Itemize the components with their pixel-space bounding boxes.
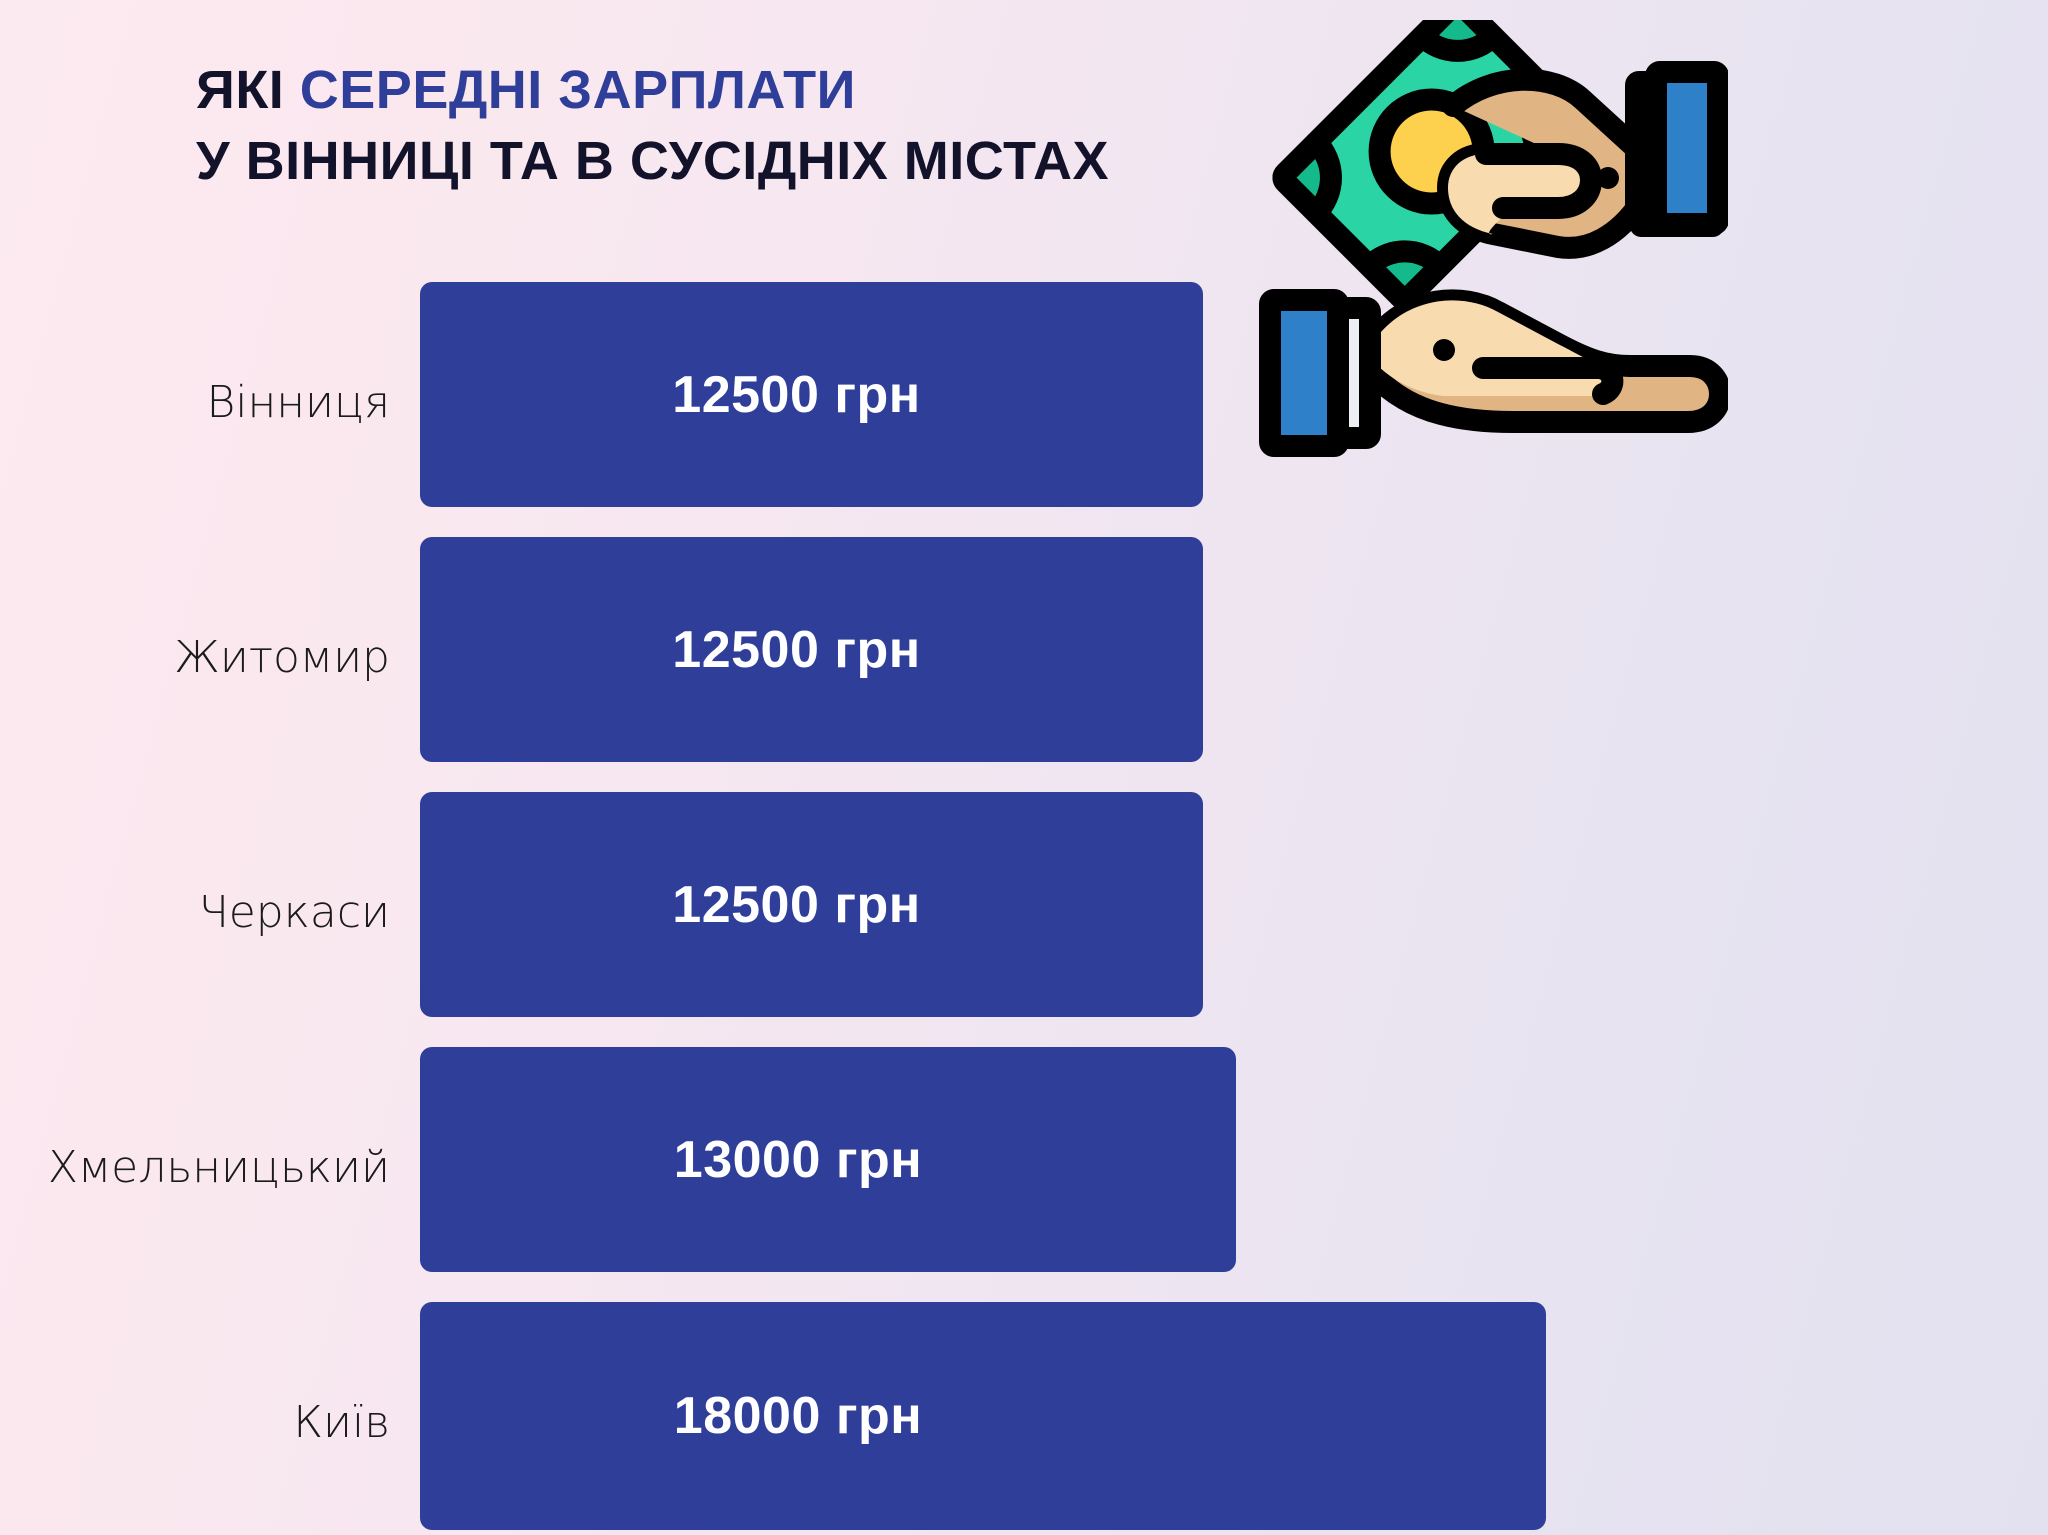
bar-category-label: Черкаси <box>0 887 390 938</box>
title-line-1: ЯКІ СЕРЕДНІ ЗАРПЛАТИ <box>196 55 1276 126</box>
bar-segment: 18000 грн <box>420 1302 1546 1530</box>
title-line-1-accent: СЕРЕДНІ ЗАРПЛАТИ <box>300 60 856 120</box>
infographic-canvas: ЯКІ СЕРЕДНІ ЗАРПЛАТИ У ВІННИЦІ ТА В СУСІ… <box>0 0 2048 1535</box>
bar-category-label: Хмельницький <box>0 1142 390 1193</box>
title-line-2: У ВІННИЦІ ТА В СУСІДНІХ МІСТАХ <box>196 126 1276 197</box>
bar-segment: 12500 грн <box>420 792 1203 1017</box>
bar-value-label: 12500 грн <box>672 875 920 935</box>
bar-value-label: 13000 грн <box>674 1130 922 1190</box>
bar-category-label: Київ <box>0 1397 390 1448</box>
title-line-1-plain: ЯКІ <box>196 60 300 120</box>
bar-segment: 12500 грн <box>420 282 1203 507</box>
bar-value-label: 18000 грн <box>674 1386 922 1446</box>
bar-value-label: 12500 грн <box>672 620 920 680</box>
bar-segment: 12500 грн <box>420 537 1203 762</box>
bar-category-label: Житомир <box>0 632 390 683</box>
bar-value-label: 12500 грн <box>672 365 920 425</box>
horizontal-bar-chart: Вінниця 12500 грн Житомир 12500 грн Черк… <box>0 265 2048 1535</box>
bar-segment: 13000 грн <box>420 1047 1236 1272</box>
bar-category-label: Вінниця <box>0 377 390 428</box>
page-title: ЯКІ СЕРЕДНІ ЗАРПЛАТИ У ВІННИЦІ ТА В СУСІ… <box>196 55 1276 198</box>
